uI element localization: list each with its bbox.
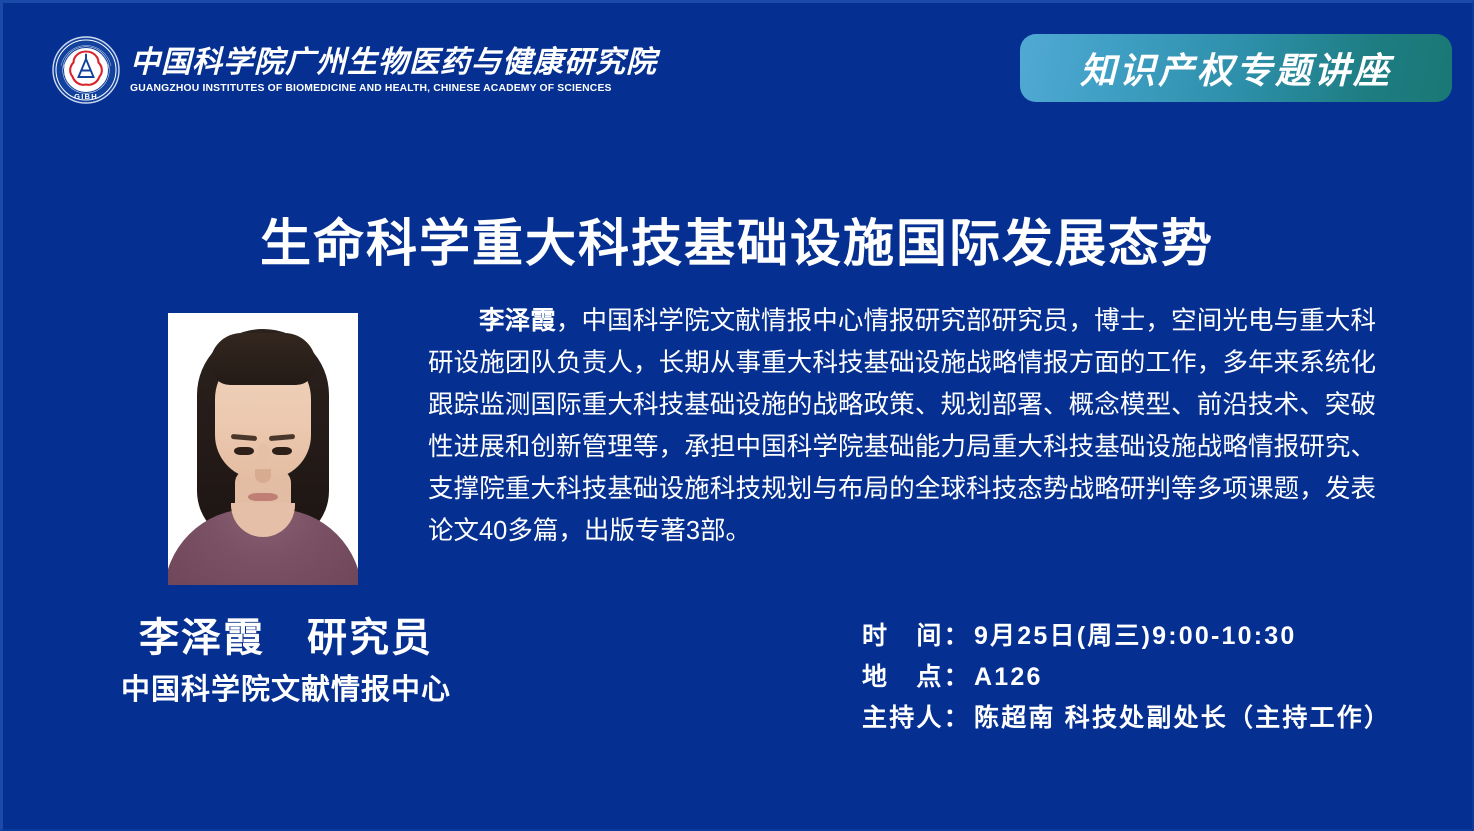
logo-organization-en: GUANGZHOU INSTITUTES OF BIOMEDICINE AND …: [130, 82, 649, 94]
portrait-mouth: [248, 493, 278, 501]
svg-text:GIBH: GIBH: [74, 92, 98, 101]
portrait-eyebrow-left: [269, 434, 295, 441]
portrait-eyebrow-right: [231, 434, 257, 441]
lecture-poster: GIBH 中国科学院广州生物医药与健康研究院 GUANGZHOU INSTITU…: [0, 0, 1474, 831]
speaker-bio-body: ，中国科学院文献情报中心情报研究部研究员，博士，空间光电与重大科研设施团队负责人…: [428, 307, 1376, 545]
portrait-eye-right: [234, 447, 254, 455]
portrait-eye-left: [272, 447, 292, 455]
speaker-bio-name: 李泽霞: [479, 307, 556, 335]
speaker-identity: 李泽霞 研究员 中国科学院文献情报中心: [76, 614, 496, 710]
detail-label-host: 主持人：: [862, 698, 974, 739]
speaker-name: 李泽霞 研究员: [76, 614, 496, 663]
detail-value-location: A126: [974, 657, 1043, 698]
logo-wordmark: 中国科学院广州生物医药与健康研究院 GUANGZHOU INSTITUTES O…: [130, 46, 657, 95]
portrait-illustration: [168, 313, 358, 585]
speaker-organization: 中国科学院文献情报中心: [76, 671, 496, 710]
event-details: 时 间： 9月25日(周三)9:00-10:30 地 点： A126 主持人： …: [862, 616, 1391, 739]
speaker-portrait: [168, 313, 358, 585]
detail-row-host: 主持人： 陈超南 科技处副处长（主持工作）: [862, 698, 1391, 739]
page-title: 生命科学重大科技基础设施国际发展态势: [0, 202, 1474, 276]
portrait-hair-fringe: [210, 333, 316, 385]
gibh-emblem-icon: GIBH: [52, 36, 120, 104]
detail-row-location: 地 点： A126: [862, 657, 1391, 698]
logo-organization-cn: 中国科学院广州生物医药与健康研究院: [130, 46, 657, 80]
topic-badge: 知识产权专题讲座: [1020, 34, 1452, 102]
detail-label-time: 时 间：: [862, 616, 974, 657]
portrait-ear-right: [257, 443, 269, 465]
detail-row-time: 时 间： 9月25日(周三)9:00-10:30: [862, 616, 1391, 657]
detail-value-time: 9月25日(周三)9:00-10:30: [974, 616, 1296, 657]
detail-value-host: 陈超南 科技处副处长（主持工作）: [974, 698, 1391, 739]
speaker-bio-text: 李泽霞，中国科学院文献情报中心情报研究部研究员，博士，空间光电与重大科研设施团队…: [428, 300, 1376, 552]
detail-label-location: 地 点：: [862, 657, 974, 698]
topic-badge-label: 知识产权专题讲座: [1080, 42, 1392, 94]
institute-logo: GIBH 中国科学院广州生物医药与健康研究院 GUANGZHOU INSTITU…: [52, 36, 657, 104]
speaker-bio: 李泽霞，中国科学院文献情报中心情报研究部研究员，博士，空间光电与重大科研设施团队…: [428, 300, 1376, 552]
